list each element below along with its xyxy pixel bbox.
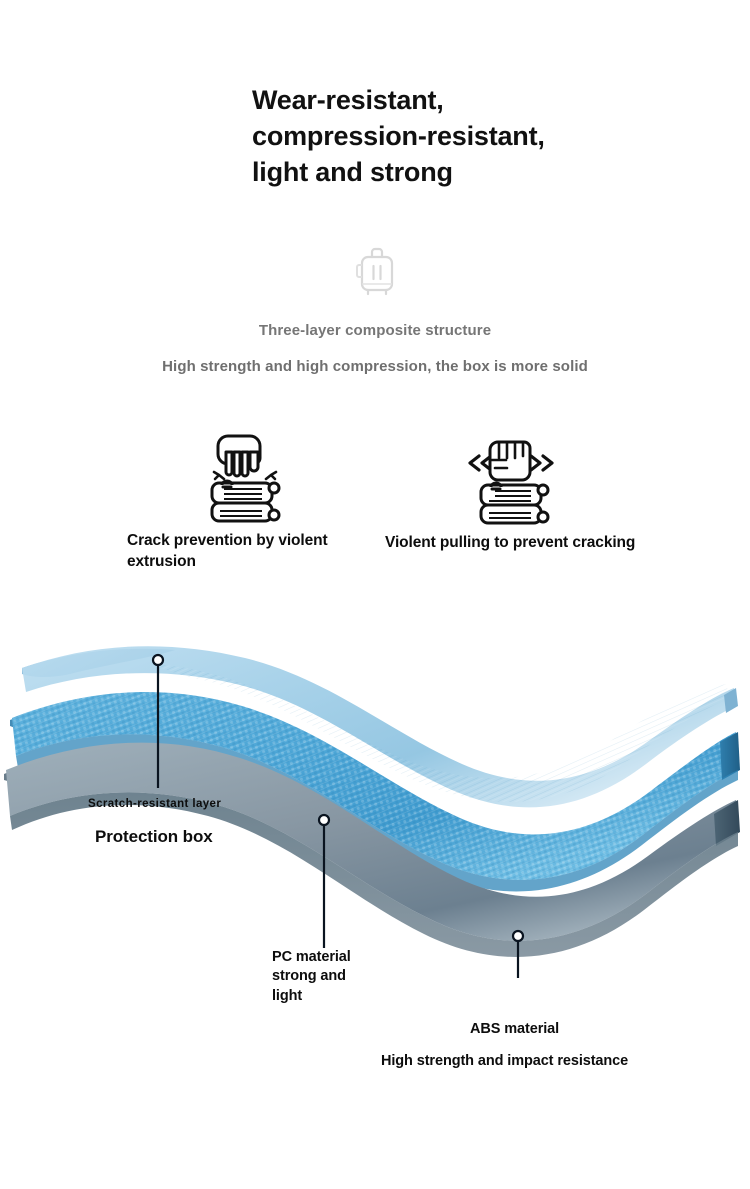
callout-scratch-resistant-layer: Scratch-resistant layer [88, 798, 221, 810]
callout-abs-material: ABS material [470, 1020, 559, 1039]
callout-protection-box: Protection box [95, 827, 213, 847]
callout-pc-material: PC material strong and light [272, 948, 392, 1006]
feature-caption: Violent pulling to prevent cracking [378, 533, 643, 554]
feature-caption: Crack prevention by violent extrusion [113, 531, 378, 573]
fist-pressing-suitcase-icon [113, 428, 378, 523]
product-infographic-page: Wear-resistant, compression-resistant, l… [0, 0, 750, 1189]
feature-crack-prevention: Crack prevention by violent extrusion [113, 428, 378, 573]
subtitle-primary: Three-layer composite structure [0, 322, 750, 339]
fist-pulling-suitcase-icon [378, 430, 643, 525]
page-title: Wear-resistant, compression-resistant, l… [252, 83, 552, 191]
feature-violent-pulling: Violent pulling to prevent cracking [378, 430, 643, 554]
suitcase-icon [354, 243, 400, 297]
subtitle-secondary: High strength and high compression, the … [0, 358, 750, 375]
callout-abs-material-sub: High strength and impact resistance [381, 1052, 628, 1071]
